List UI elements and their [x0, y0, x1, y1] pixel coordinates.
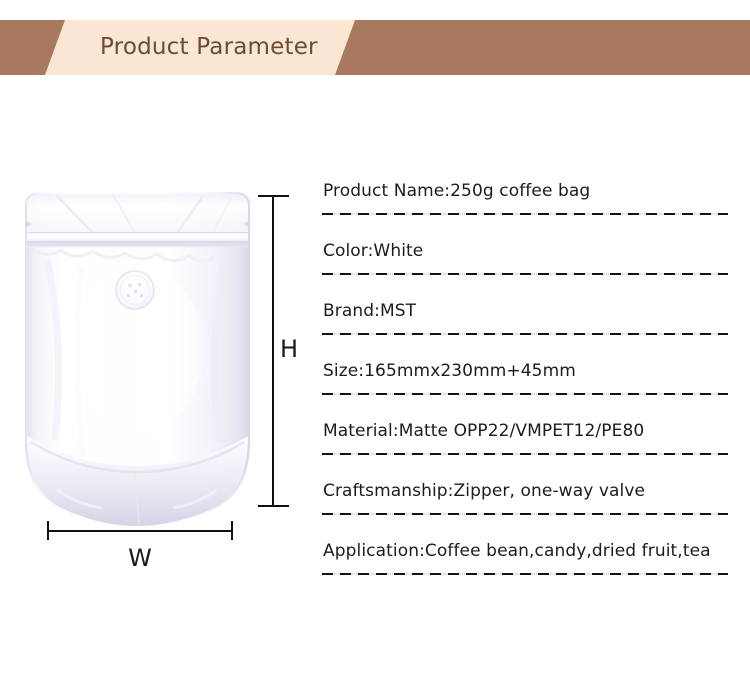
spec-text-color: Color:White: [323, 241, 423, 261]
width-dimension-cap-right: [231, 521, 233, 540]
spec-row-craftsmanship: Craftsmanship:Zipper, one-way valve: [322, 455, 728, 515]
height-dimension-line: [272, 196, 274, 506]
spec-text-product-name: Product Name:250g coffee bag: [323, 181, 590, 201]
zipper-seal: [27, 232, 248, 247]
spec-text-material: Material:Matte OPP22/VMPET12/PE80: [323, 421, 644, 441]
spec-row-color: Color:White: [322, 215, 728, 275]
height-dimension-cap-bottom: [258, 505, 289, 507]
product-image-coffee-pouch: [17, 190, 258, 526]
product-parameter-list: Product Name:250g coffee bag Color:White…: [322, 155, 728, 575]
one-way-valve: [116, 271, 154, 309]
product-figure: H W: [0, 150, 310, 590]
spec-row-product-name: Product Name:250g coffee bag: [322, 155, 728, 215]
width-dimension-label: W: [0, 544, 280, 572]
pouch-illustration: [17, 190, 258, 526]
width-dimension-line: [47, 530, 233, 532]
spec-row-material: Material:Matte OPP22/VMPET12/PE80: [322, 395, 728, 455]
height-dimension-label: H: [280, 335, 298, 363]
header-banner: Product Parameter: [0, 20, 750, 75]
page-title: Product Parameter: [100, 20, 318, 75]
spec-divider: [322, 573, 728, 575]
spec-text-brand: Brand:MST: [323, 301, 416, 321]
spec-text-size: Size:165mmx230mm+45mm: [323, 361, 576, 381]
spec-row-application: Application:Coffee bean,candy,dried frui…: [322, 515, 728, 575]
spec-text-craftsmanship: Craftsmanship:Zipper, one-way valve: [323, 481, 645, 501]
spec-text-application: Application:Coffee bean,candy,dried frui…: [323, 541, 711, 561]
spec-row-brand: Brand:MST: [322, 275, 728, 335]
spec-row-size: Size:165mmx230mm+45mm: [322, 335, 728, 395]
